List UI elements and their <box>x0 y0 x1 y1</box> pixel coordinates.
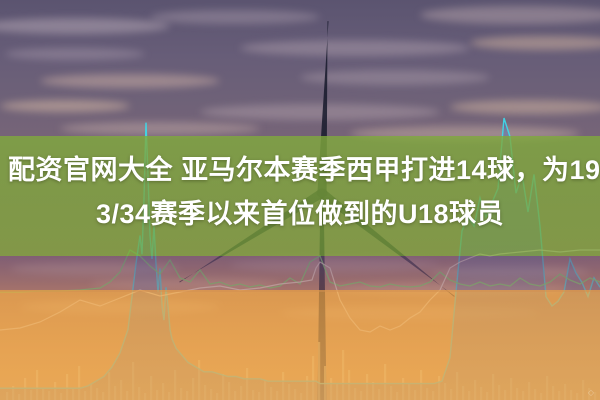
headline-line-2: 3/34赛季以来首位做到的U18球员 <box>0 192 600 236</box>
headline-text: 配资官网大全 亚马尔本赛季西甲打进14球，为193 3/34赛季以来首位做到的U… <box>0 148 600 236</box>
orange-color-band <box>0 290 600 400</box>
headline-line-1: 配资官网大全 亚马尔本赛季西甲打进14球，为193 <box>0 148 600 192</box>
screenshot-root: 配资官网大全 亚马尔本赛季西甲打进14球，为193 3/34赛季以来首位做到的U… <box>0 0 600 400</box>
watermark-mark: ◇ <box>588 388 594 397</box>
purple-color-band <box>0 256 600 292</box>
